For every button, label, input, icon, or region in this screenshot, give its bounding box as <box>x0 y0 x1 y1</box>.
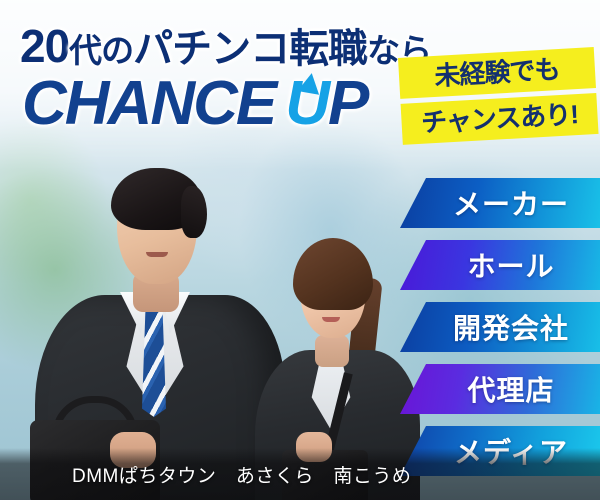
promo-badge: 未経験でも チャンスあり! <box>398 47 599 145</box>
headline-primary: 20代のパチンコ転職なら <box>20 16 431 74</box>
category-label: メーカー <box>431 183 569 223</box>
headline-number: 20 <box>20 20 69 72</box>
category-list: メーカー ホール 開発会社 代理店 メディア <box>400 178 600 488</box>
headline-dai: 代 <box>69 32 101 69</box>
category-button-agency[interactable]: 代理店 <box>400 364 600 414</box>
caption-bar: DMMぱちタウン あさくら 南こうめ <box>0 448 600 500</box>
category-label: ホール <box>445 245 554 285</box>
logo-letter-u: U <box>285 69 328 138</box>
category-label: 代理店 <box>445 369 554 409</box>
headline-pachinko: パチンコ <box>133 27 289 71</box>
logo-chance-up: CHANCEUP <box>22 68 367 139</box>
woman-mouth <box>322 317 340 322</box>
up-arrow-icon <box>298 71 323 95</box>
headline-tenshoku: 転職 <box>289 27 367 71</box>
logo-letter-p: P <box>328 69 367 138</box>
category-button-development-company[interactable]: 開発会社 <box>400 302 600 352</box>
headline-no: の <box>101 32 133 69</box>
category-button-maker[interactable]: メーカー <box>400 178 600 228</box>
man-mouth <box>146 252 168 257</box>
woman-neck <box>315 335 349 367</box>
man-hair <box>111 168 203 230</box>
category-button-hall[interactable]: ホール <box>400 240 600 290</box>
man-necktie <box>142 312 166 417</box>
advertisement-banner[interactable]: 20代のパチンコ転職なら CHANCEUP 未経験でも チャンスあり! メーカー… <box>0 0 600 500</box>
logo-word-chance: CHANCE <box>22 69 275 138</box>
caption-text: DMMぱちタウン あさくら 南こうめ <box>0 461 411 488</box>
category-label: 開発会社 <box>431 307 569 347</box>
